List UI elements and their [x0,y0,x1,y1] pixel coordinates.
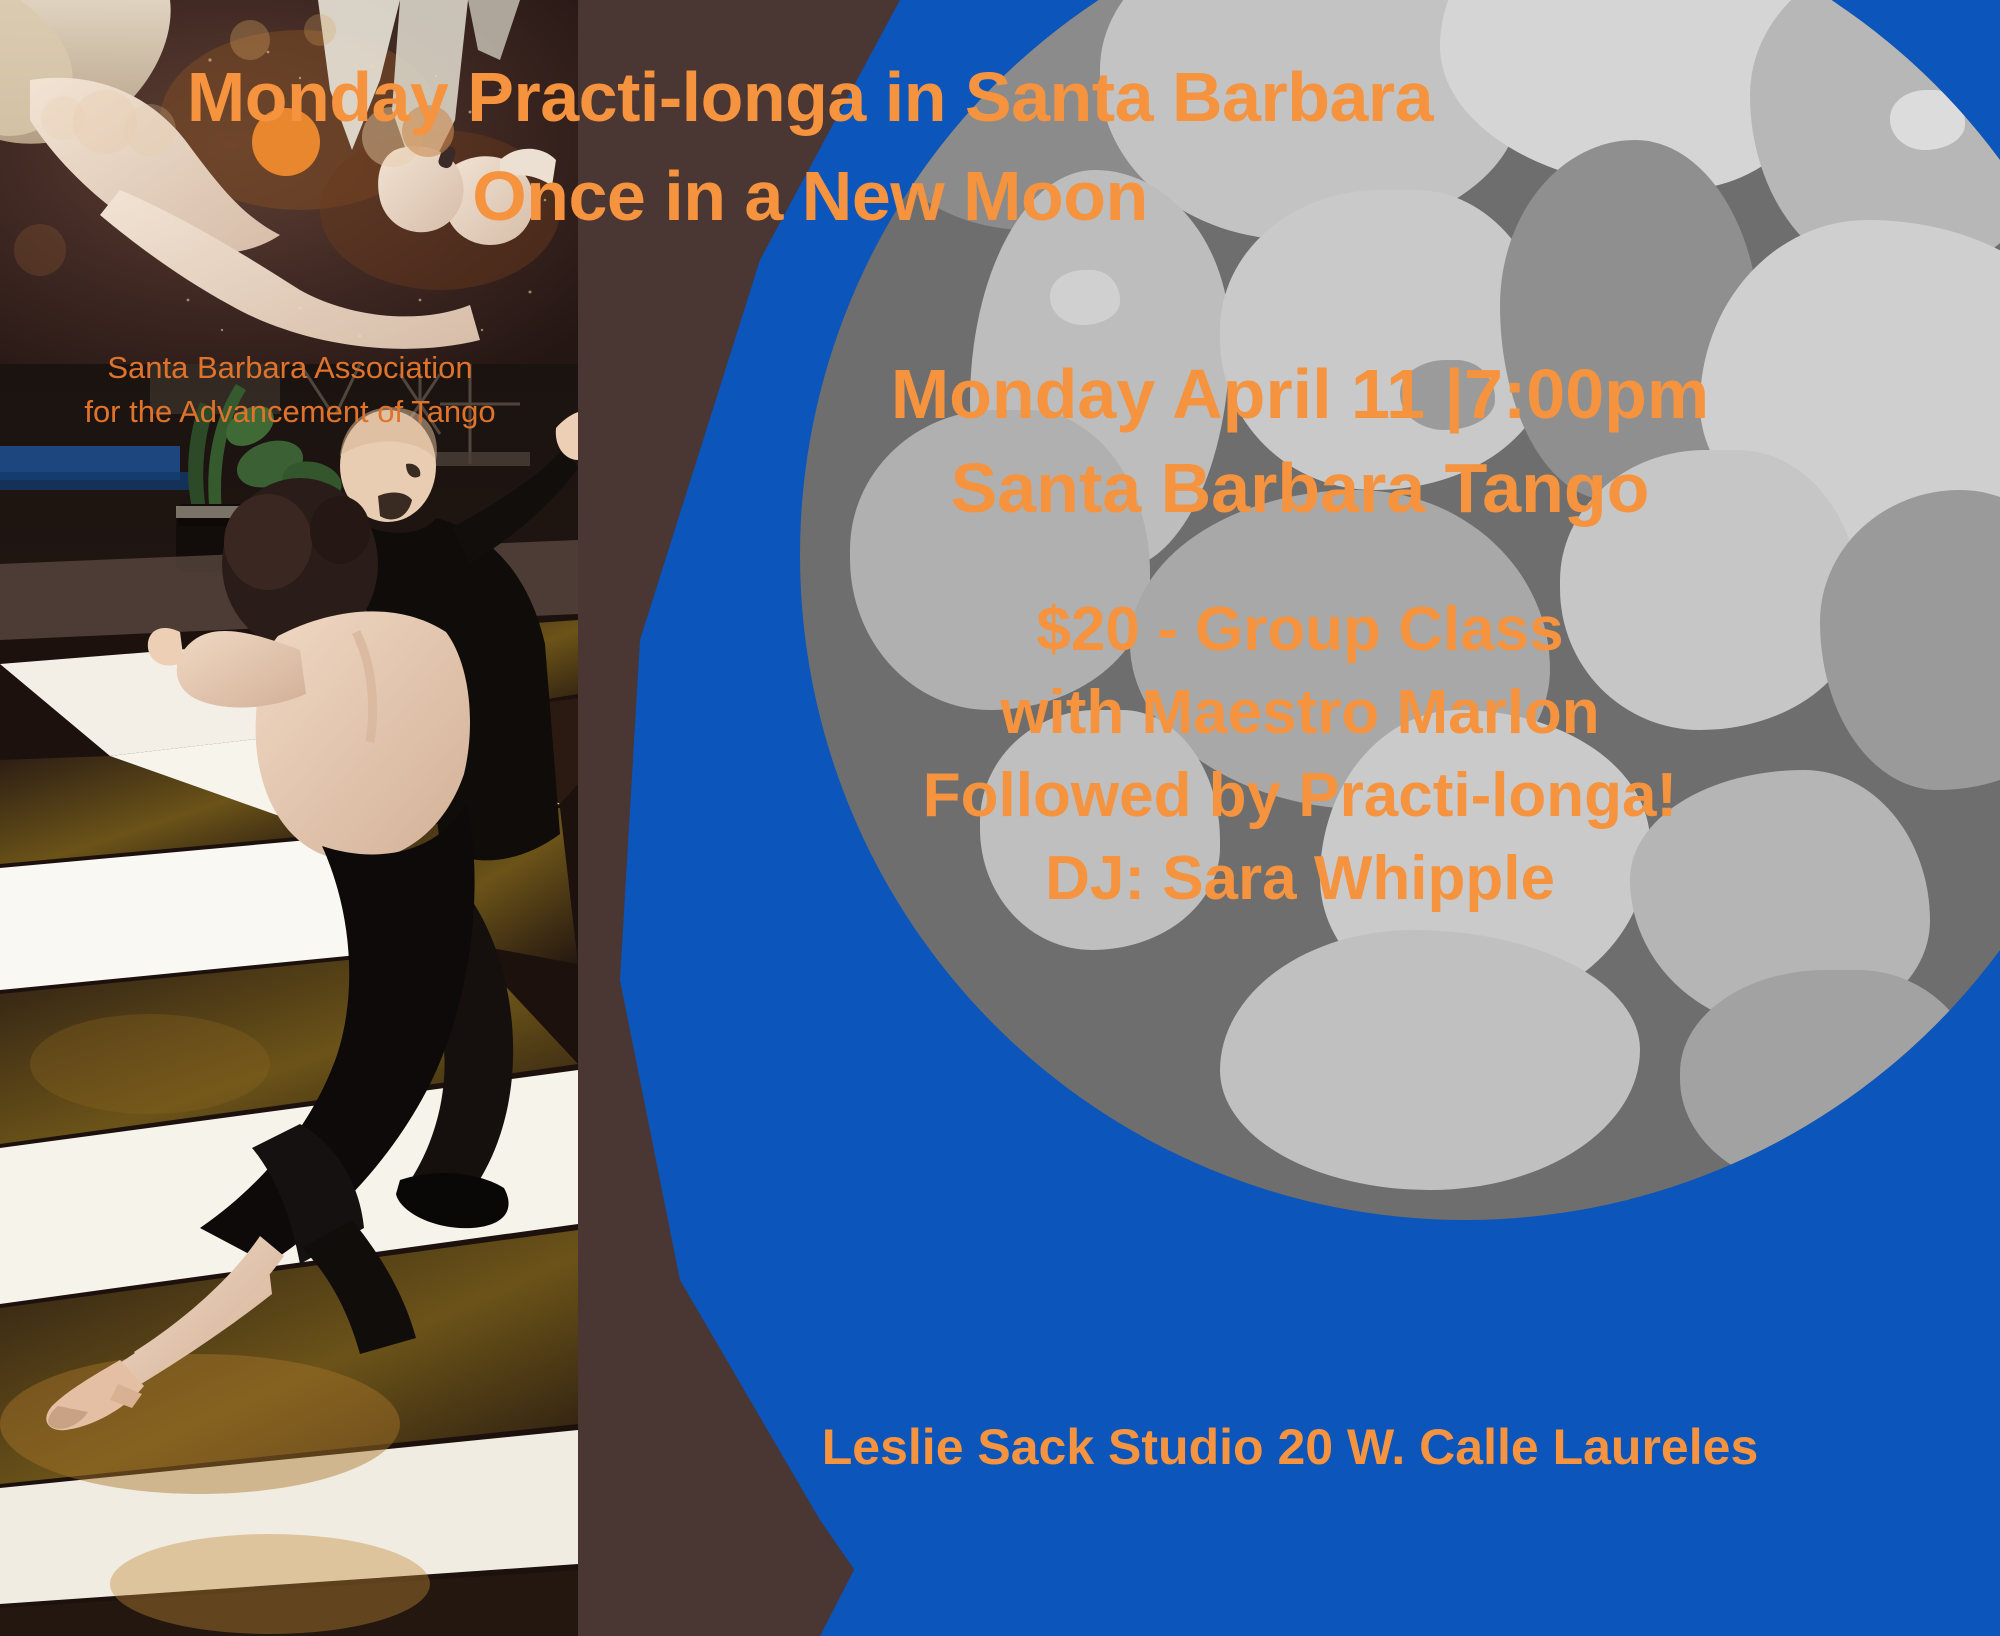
event-followup: Followed by Practi-longa! [600,754,2000,837]
event-price-class: $20 - Group Class [600,588,2000,671]
event-dj: DJ: Sara Whipple [600,837,2000,920]
event-details: Monday April 11 |7:00pm Santa Barbara Ta… [600,348,2000,920]
title-line-1: Monday Practi-longa in Santa Barbara [100,48,1520,147]
title-line-2: Once in a New Moon [100,147,1520,246]
event-venue-name: Santa Barbara Tango [600,442,2000,536]
organization-line-2: for the Advancement of Tango [30,390,550,434]
tango-dancers-checkered-floor-photo [0,364,578,1636]
organization-name: Santa Barbara Association for the Advanc… [30,346,550,434]
event-date-time: Monday April 11 |7:00pm [600,348,2000,442]
details-spacer [600,536,2000,588]
event-instructor: with Maestro Marlon [600,671,2000,754]
page-title: Monday Practi-longa in Santa Barbara Onc… [100,48,1520,247]
organization-line-1: Santa Barbara Association [30,346,550,390]
venue-address: Leslie Sack Studio 20 W. Calle Laureles [580,1418,2000,1476]
tango-event-poster: Monday Practi-longa in Santa Barbara Onc… [0,0,2000,1636]
